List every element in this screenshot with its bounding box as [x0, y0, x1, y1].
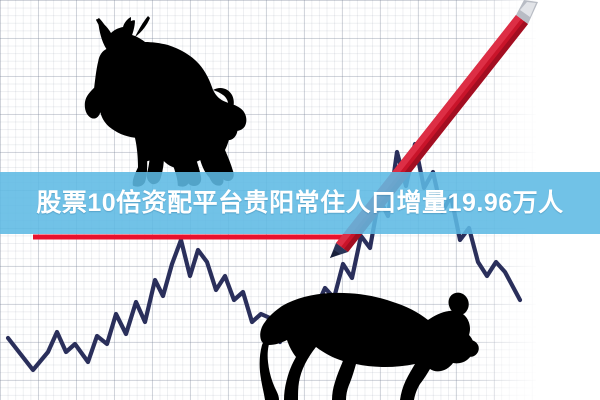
title-banner: 股票10倍资配平台贵阳常住人口增量19.96万人	[0, 172, 600, 234]
stock-market-banner-image: 股票10倍资配平台贵阳常住人口增量19.96万人	[0, 0, 600, 400]
bear-silhouette	[260, 293, 479, 400]
banner-title-text: 股票10倍资配平台贵阳常住人口增量19.96万人	[36, 191, 563, 216]
